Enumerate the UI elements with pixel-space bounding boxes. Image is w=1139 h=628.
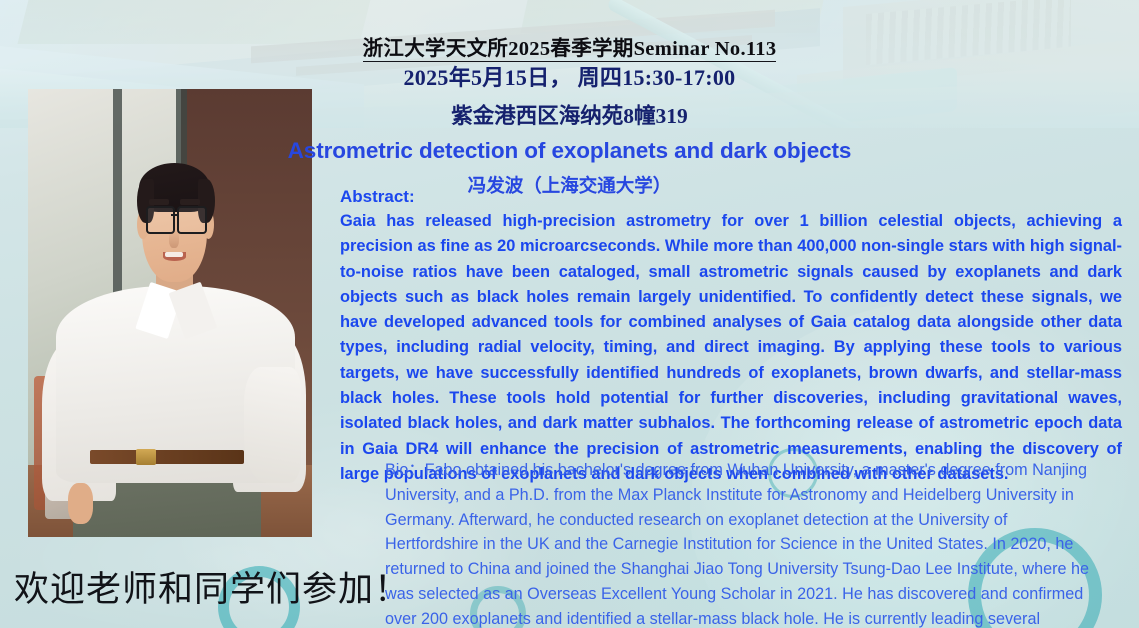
- bio-text: Bio：Fabo obtained his bachelor's degree …: [385, 458, 1095, 628]
- talk-title: Astrometric detection of exoplanets and …: [0, 138, 1139, 164]
- abstract-text: Gaia has released high-precision astrome…: [340, 209, 1122, 487]
- seminar-venue: 紫金港西区海纳苑8幢319: [0, 99, 1139, 130]
- abstract-label: Abstract:: [340, 187, 415, 207]
- seminar-series-line: 浙江大学天文所2025春季学期Seminar No.113: [0, 31, 1139, 61]
- seminar-datetime: 2025年5月15日， 周四15:30-17:00: [0, 60, 1139, 92]
- speaker-name-affiliation: 冯发波（上海交通大学）: [0, 172, 1139, 198]
- seminar-poster: 浙江大学天文所2025春季学期Seminar No.113 2025年5月15日…: [0, 0, 1139, 628]
- seminar-series-text: 浙江大学天文所2025春季学期Seminar No.113: [363, 38, 777, 62]
- welcome-message: 欢迎老师和同学们参加！: [14, 561, 410, 612]
